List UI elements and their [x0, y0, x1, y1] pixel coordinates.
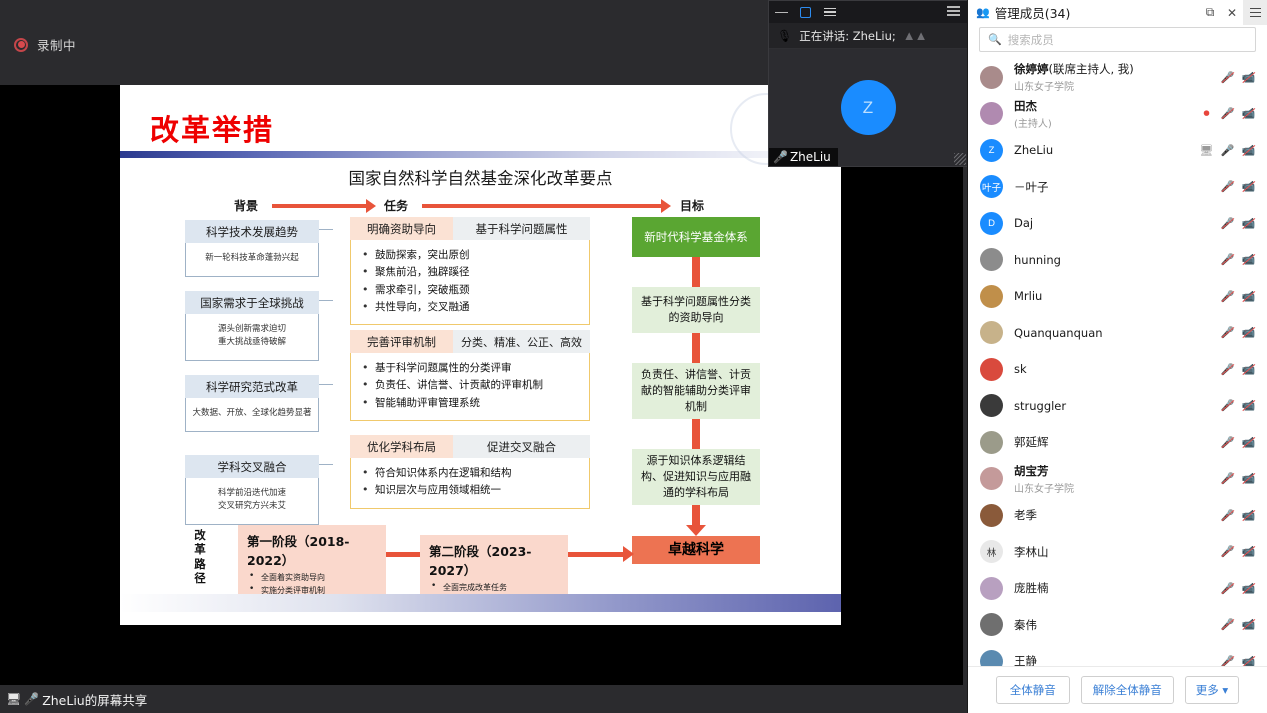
- mute-all-button[interactable]: 全体静音: [996, 676, 1070, 704]
- strike-through: [1221, 181, 1234, 192]
- mic-icon: 🎤: [773, 150, 788, 164]
- participant-row[interactable]: 徐婷婷(联席主持人, 我)山东女子学院🎤📹: [968, 59, 1267, 96]
- strike-through: [1242, 364, 1255, 375]
- participant-row[interactable]: 胡宝芳山东女子学院🎤📹: [968, 461, 1267, 498]
- participant-row[interactable]: sk🎤📹: [968, 351, 1267, 388]
- phase-item: 全面完成改革任务: [429, 581, 559, 594]
- participant-row[interactable]: Mrliu🎤📹: [968, 278, 1267, 315]
- menu-icon[interactable]: [823, 6, 836, 19]
- task-tab-primary: 明确资助导向: [350, 217, 453, 240]
- participant-info: －叶子: [1014, 179, 1221, 195]
- participant-row[interactable]: 叶子－叶子🎤📹: [968, 169, 1267, 206]
- task-item: 知识层次与应用领域相统一: [361, 482, 584, 499]
- phase-items: 全面完成改革任务: [429, 581, 559, 594]
- participants-panel: 👥 管理成员(34) ⧉ ✕ 🔍 徐婷婷(联席主持人, 我)山东女子学院🎤📹田杰…: [967, 0, 1267, 713]
- participant-row[interactable]: 秦伟🎤📹: [968, 607, 1267, 644]
- panel-header-actions: ⧉ ✕: [1199, 0, 1267, 25]
- participant-info: 胡宝芳山东女子学院: [1014, 463, 1221, 495]
- people-icon: 👥: [976, 6, 990, 19]
- video-tile-name: 🎤 ZheLiu: [769, 148, 838, 166]
- mic-off-icon[interactable]: 🎤: [1221, 107, 1234, 120]
- strike-through: [1242, 327, 1255, 338]
- participant-status-icons: 🎤📹: [1221, 545, 1259, 558]
- participant-info: Quanquanquan: [1014, 326, 1221, 340]
- task-tab-primary: 优化学科布局: [350, 435, 453, 458]
- camera-off-icon[interactable]: 📹: [1242, 509, 1255, 522]
- participant-row[interactable]: 庞胜楠🎤📹: [968, 570, 1267, 607]
- avatar: [980, 66, 1003, 89]
- slide-divider-top: [120, 151, 841, 158]
- participant-status-icons: 🎤📹: [1221, 472, 1259, 485]
- strike-through: [1221, 364, 1234, 375]
- participant-name: 胡宝芳: [1014, 463, 1221, 479]
- avatar: [980, 358, 1003, 381]
- phase-connector: [386, 552, 420, 557]
- participant-info: ZheLiu: [1014, 143, 1200, 157]
- strike-through: [1221, 218, 1234, 229]
- minimize-icon[interactable]: —: [775, 6, 788, 19]
- mic-off-icon[interactable]: 🎤: [1221, 472, 1234, 485]
- recording-label: 录制中: [37, 35, 76, 54]
- avatar: [980, 285, 1003, 308]
- connector-tick: [319, 464, 333, 465]
- participant-info: 庞胜楠: [1014, 580, 1221, 596]
- camera-off-icon[interactable]: 📹: [1242, 326, 1255, 339]
- background-card-body: 源头创新需求迫切 重大挑战亟待破解: [185, 314, 319, 361]
- task-group-items: 基于科学问题属性的分类评审 负责任、讲信誉、计贡献的评审机制 智能辅助评审管理系…: [350, 353, 590, 421]
- mic-off-icon[interactable]: 🎤: [1221, 399, 1234, 412]
- avatar: [980, 577, 1003, 600]
- camera-off-icon[interactable]: 📹: [1242, 144, 1255, 157]
- participant-row[interactable]: 田杰(主持人)⏺🎤📹: [968, 96, 1267, 133]
- mic-off-icon[interactable]: 🎤: [1221, 363, 1234, 376]
- participant-status-icons: 🎤📹: [1221, 326, 1259, 339]
- participant-row[interactable]: 老季🎤📹: [968, 497, 1267, 534]
- participant-info: Mrliu: [1014, 289, 1221, 303]
- search-area: 🔍: [968, 25, 1267, 59]
- avatar: [980, 613, 1003, 636]
- phase-item: 全面着实资助导向: [247, 571, 377, 584]
- strike-through: [1221, 619, 1234, 630]
- resize-handle[interactable]: [954, 153, 966, 165]
- audio-wave-icon: ▲▲: [903, 28, 927, 43]
- participant-status-icons: 🖥🎤📹: [1200, 144, 1259, 157]
- task-group-tabs: 优化学科布局 促进交叉融合: [350, 435, 590, 458]
- strike-through: [1221, 546, 1234, 557]
- strike-through: [1221, 254, 1234, 265]
- record-dot-icon: [14, 38, 28, 52]
- strike-through: [1221, 400, 1234, 411]
- video-tile-name-label: ZheLiu: [790, 150, 831, 164]
- task-tab-secondary: 分类、精准、公正、高效: [453, 330, 590, 353]
- task-group-tabs: 明确资助导向 基于科学问题属性: [350, 217, 590, 240]
- screen-share-status-bar: 🖥 🎤 ZheLiu的屏幕共享: [0, 685, 963, 713]
- participant-name: 秦伟: [1014, 617, 1221, 633]
- strike-through: [1221, 72, 1234, 83]
- phase-to-goal-arrow: [568, 552, 624, 557]
- background-card-body: 新一轮科技革命蓬勃兴起: [185, 243, 319, 277]
- reform-path-label: 改革路径: [192, 528, 208, 586]
- participant-name: Daj: [1014, 216, 1221, 230]
- mic-on-icon[interactable]: 🎤: [1221, 144, 1234, 157]
- task-tab-secondary: 促进交叉融合: [453, 435, 590, 458]
- participants-panel-footer: 全体静音 解除全体静音 更多 ▾: [968, 666, 1267, 713]
- participant-name: 李林山: [1014, 544, 1221, 560]
- camera-off-icon[interactable]: 📹: [1242, 253, 1255, 266]
- strike-through: [1242, 218, 1255, 229]
- goal-final-box: 卓越科学: [632, 536, 760, 564]
- strike-through: [1242, 400, 1255, 411]
- participant-info: sk: [1014, 362, 1221, 376]
- avatar: [980, 248, 1003, 271]
- search-box[interactable]: 🔍: [979, 27, 1256, 52]
- camera-off-icon[interactable]: 📹: [1242, 582, 1255, 595]
- participant-info: 郭延辉: [1014, 434, 1221, 450]
- participant-name: 庞胜楠: [1014, 580, 1221, 596]
- participant-row[interactable]: DDaj🎤📹: [968, 205, 1267, 242]
- recording-indicator[interactable]: 录制中: [14, 35, 76, 54]
- participant-status-icons: 🎤📹: [1221, 71, 1259, 84]
- camera-off-icon[interactable]: 📹: [1242, 472, 1255, 485]
- goal-connector-arrow: [692, 505, 700, 525]
- participant-status-icons: ⏺🎤📹: [1200, 107, 1259, 120]
- task-group: 完善评审机制 分类、精准、公正、高效 基于科学问题属性的分类评审 负责任、讲信誉…: [350, 330, 590, 421]
- strike-through: [1221, 108, 1234, 119]
- strike-through: [1221, 583, 1234, 594]
- mic-off-icon[interactable]: 🎤: [1221, 509, 1234, 522]
- goal-box: 源于知识体系逻辑结构、促进知识与应用融通的学科布局: [632, 449, 760, 505]
- task-item: 共性导向，交叉融通: [361, 299, 584, 316]
- meeting-main-area: 录制中 改革举措 国家自然科学自然基金深化改革要点 背景 任务 目标 科学技术发…: [0, 0, 963, 713]
- screen-share-label: ZheLiu的屏幕共享: [42, 690, 147, 709]
- participant-status-icons: 🎤📹: [1221, 217, 1259, 230]
- strike-through: [1221, 327, 1234, 338]
- strike-through: [1242, 437, 1255, 448]
- background-card-caption: 科学技术发展趋势: [185, 220, 319, 243]
- participant-name: －叶子: [1014, 179, 1221, 195]
- participant-subtitle: 山东女子学院: [1014, 480, 1221, 495]
- background-card-body: 科学前沿迭代加速 交叉研究方兴未艾: [185, 478, 319, 525]
- participant-name: sk: [1014, 362, 1221, 376]
- camera-off-icon[interactable]: 📹: [1242, 217, 1255, 230]
- strike-through: [1242, 619, 1255, 630]
- goal-connector: [692, 419, 700, 449]
- participant-name: 老季: [1014, 507, 1221, 523]
- strike-through: [1221, 510, 1234, 521]
- strike-through: [1221, 437, 1234, 448]
- unmute-all-button[interactable]: 解除全体静音: [1081, 676, 1174, 704]
- goal-box: 负责任、讲信誉、计贡献的智能辅助分类评审机制: [632, 363, 760, 419]
- participant-info: 老季: [1014, 507, 1221, 523]
- avatar: [980, 394, 1003, 417]
- task-group-tabs: 完善评审机制 分类、精准、公正、高效: [350, 330, 590, 353]
- arrow-background-to-task: [272, 204, 367, 208]
- avatar: [980, 431, 1003, 454]
- participant-name: struggler: [1014, 399, 1221, 413]
- participant-info: 李林山: [1014, 544, 1221, 560]
- goal-box: 基于科学问题属性分类的资助导向: [632, 287, 760, 333]
- phase-title: 第二阶段（2023-2027）: [429, 541, 559, 579]
- strike-through: [1242, 145, 1255, 156]
- task-item: 基于科学问题属性的分类评审: [361, 360, 584, 377]
- goal-box: 新时代科学基金体系: [632, 217, 760, 257]
- participant-name: hunning: [1014, 253, 1221, 267]
- participant-info: 王静: [1014, 653, 1221, 666]
- task-item: 聚焦前沿，独辟蹊径: [361, 264, 584, 281]
- shared-slide: 改革举措 国家自然科学自然基金深化改革要点 背景 任务 目标 科学技术发展趋势 …: [120, 85, 841, 625]
- strike-through: [1242, 546, 1255, 557]
- task-group: 明确资助导向 基于科学问题属性 鼓励探索，突出原创 聚焦前沿，独辟蹊径 需求牵引…: [350, 217, 590, 325]
- participants-list[interactable]: 徐婷婷(联席主持人, 我)山东女子学院🎤📹田杰(主持人)⏺🎤📹ZZheLiu🖥🎤…: [968, 59, 1267, 666]
- background-card-caption: 国家需求于全球挑战: [185, 291, 319, 314]
- participant-info: struggler: [1014, 399, 1221, 413]
- goal-connector: [692, 333, 700, 363]
- restore-icon[interactable]: [799, 6, 812, 19]
- background-card: 科学技术发展趋势 新一轮科技革命蓬勃兴起: [185, 220, 319, 277]
- participant-info: hunning: [1014, 253, 1221, 267]
- task-item: 符合知识体系内在逻辑和结构: [361, 465, 584, 482]
- phase-box: 第二阶段（2023-2027） 全面完成改革任务: [420, 535, 568, 600]
- mic-off-icon[interactable]: 🎤: [1221, 618, 1234, 631]
- strike-through: [1242, 181, 1255, 192]
- avatar: 林: [980, 540, 1003, 563]
- participant-status-icons: 🎤📹: [1221, 363, 1259, 376]
- layout-icon[interactable]: [947, 6, 960, 16]
- participant-status-icons: 🎤📹: [1221, 618, 1259, 631]
- more-button[interactable]: 更多 ▾: [1185, 676, 1239, 704]
- arrow-task-to-goal: [422, 204, 662, 208]
- participant-status-icons: 🎤📹: [1221, 509, 1259, 522]
- connector-tick: [319, 384, 333, 385]
- search-input[interactable]: [1008, 33, 1247, 47]
- participant-info: 秦伟: [1014, 617, 1221, 633]
- task-item: 鼓励探索，突出原创: [361, 247, 584, 264]
- camera-off-icon[interactable]: 📹: [1242, 363, 1255, 376]
- task-item: 智能辅助评审管理系统: [361, 395, 584, 412]
- strike-through: [1242, 291, 1255, 302]
- participant-info: Daj: [1014, 216, 1221, 230]
- mic-off-icon[interactable]: 🎤: [1221, 436, 1234, 449]
- task-item: 负责任、讲信誉、计贡献的评审机制: [361, 377, 584, 394]
- background-card: 国家需求于全球挑战 源头创新需求迫切 重大挑战亟待破解: [185, 291, 319, 361]
- participant-status-icons: 🎤📹: [1221, 582, 1259, 595]
- task-item: 需求牵引，突破瓶颈: [361, 282, 584, 299]
- column-header-background: 背景: [234, 197, 258, 214]
- participants-panel-title: 管理成员(34): [995, 3, 1071, 22]
- participant-name: 王静: [1014, 653, 1221, 666]
- screen-share-icon[interactable]: 🖥: [1200, 144, 1213, 157]
- avatar: Z: [841, 80, 896, 135]
- avatar: D: [980, 212, 1003, 235]
- strike-through: [1242, 473, 1255, 484]
- active-speaker-bar: 🎙 正在讲话: ZheLiu; ▲▲: [769, 23, 967, 49]
- task-group-items: 符合知识体系内在逻辑和结构 知识层次与应用领域相统一: [350, 458, 590, 509]
- connector-tick: [319, 229, 333, 230]
- participant-status-icons: 🎤📹: [1221, 290, 1259, 303]
- participant-row[interactable]: struggler🎤📹: [968, 388, 1267, 425]
- strike-through: [1242, 656, 1255, 666]
- strike-through: [1221, 656, 1234, 666]
- task-tab-secondary: 基于科学问题属性: [453, 217, 590, 240]
- mic-icon: 🎤: [24, 692, 39, 706]
- slide-footer-strip: [120, 612, 841, 625]
- close-icon[interactable]: ✕: [1221, 0, 1243, 25]
- participant-name: Mrliu: [1014, 289, 1221, 303]
- participant-row[interactable]: hunning🎤📹: [968, 242, 1267, 279]
- column-header-task: 任务: [384, 197, 408, 214]
- active-speaker-text: 正在讲话: ZheLiu;: [799, 28, 896, 44]
- mic-off-icon[interactable]: 🎤: [1221, 253, 1234, 266]
- camera-off-icon[interactable]: 📹: [1242, 290, 1255, 303]
- participant-name: 田杰: [1014, 98, 1200, 114]
- mic-off-icon[interactable]: 🎤: [1221, 290, 1234, 303]
- mic-off-icon[interactable]: 🎤: [1221, 545, 1234, 558]
- participant-subtitle: 山东女子学院: [1014, 78, 1221, 93]
- participant-row[interactable]: Quanquanquan🎤📹: [968, 315, 1267, 352]
- participant-info: 田杰(主持人): [1014, 98, 1200, 130]
- participant-status-icons: 🎤📹: [1221, 436, 1259, 449]
- avatar: 叶子: [980, 175, 1003, 198]
- strike-through: [1242, 254, 1255, 265]
- participant-row[interactable]: 林李林山🎤📹: [968, 534, 1267, 571]
- video-tile[interactable]: Z 🎤 ZheLiu: [769, 49, 967, 166]
- participant-row[interactable]: ZZheLiu🖥🎤📹: [968, 132, 1267, 169]
- mic-off-icon[interactable]: 🎤: [1221, 326, 1234, 339]
- recording-icon[interactable]: ⏺: [1200, 107, 1213, 120]
- participant-status-icons: 🎤📹: [1221, 253, 1259, 266]
- phase-title: 第一阶段（2018-2022）: [247, 531, 377, 569]
- slide-divider-bottom: [120, 594, 841, 612]
- participant-status-icons: 🎤📹: [1221, 180, 1259, 193]
- strike-through: [1242, 72, 1255, 83]
- floating-window-titlebar[interactable]: —: [769, 1, 967, 23]
- participant-name: ZheLiu: [1014, 143, 1200, 157]
- column-header-goal: 目标: [680, 197, 704, 214]
- task-group: 优化学科布局 促进交叉融合 符合知识体系内在逻辑和结构 知识层次与应用领域相统一: [350, 435, 590, 509]
- mic-off-icon[interactable]: 🎤: [1221, 582, 1234, 595]
- avatar: Z: [980, 139, 1003, 162]
- connector-tick: [319, 300, 333, 301]
- strike-through: [1242, 583, 1255, 594]
- background-card-caption: 学科交叉融合: [185, 455, 319, 478]
- camera-off-icon[interactable]: 📹: [1242, 71, 1255, 84]
- hamburger-icon[interactable]: [1243, 0, 1267, 25]
- background-card: 学科交叉融合 科学前沿迭代加速 交叉研究方兴未艾: [185, 455, 319, 525]
- strike-through: [1221, 291, 1234, 302]
- diagram-title: 国家自然科学自然基金深化改革要点: [120, 165, 841, 189]
- screen-icon: 🖥: [6, 692, 21, 706]
- participant-status-icons: 🎤📹: [1221, 399, 1259, 412]
- strike-through: [1242, 510, 1255, 521]
- participant-status-icons: 🎤📹: [1221, 655, 1259, 666]
- background-card: 科学研究范式改革 大数据、开放、全球化趋势显著: [185, 375, 319, 432]
- slide-title: 改革举措: [150, 107, 274, 149]
- speaking-icon: 🎙: [777, 29, 792, 43]
- participants-panel-header: 👥 管理成员(34) ⧉ ✕: [968, 0, 1267, 25]
- avatar: [980, 504, 1003, 527]
- camera-off-icon[interactable]: 📹: [1242, 107, 1255, 120]
- task-tab-primary: 完善评审机制: [350, 330, 453, 353]
- strike-through: [1242, 108, 1255, 119]
- camera-off-icon[interactable]: 📹: [1242, 618, 1255, 631]
- camera-off-icon[interactable]: 📹: [1242, 180, 1255, 193]
- mic-off-icon[interactable]: 🎤: [1221, 217, 1234, 230]
- task-group-items: 鼓励探索，突出原创 聚焦前沿，独辟蹊径 需求牵引，突破瓶颈 共性导向，交叉融通: [350, 240, 590, 325]
- strike-through: [1221, 473, 1234, 484]
- avatar: [980, 650, 1003, 666]
- background-card-body: 大数据、开放、全球化趋势显著: [185, 398, 319, 432]
- mic-off-icon[interactable]: 🎤: [1221, 71, 1234, 84]
- participant-subtitle: (主持人): [1014, 115, 1200, 130]
- mic-off-icon[interactable]: 🎤: [1221, 655, 1234, 666]
- participant-row[interactable]: 郭延辉🎤📹: [968, 424, 1267, 461]
- camera-off-icon[interactable]: 📹: [1242, 399, 1255, 412]
- floating-video-window[interactable]: — 🎙 正在讲话: ZheLiu; ▲▲ Z 🎤 ZheLiu: [768, 0, 968, 167]
- participant-info: 徐婷婷(联席主持人, 我)山东女子学院: [1014, 61, 1221, 93]
- mic-off-icon[interactable]: 🎤: [1221, 180, 1234, 193]
- avatar: [980, 467, 1003, 490]
- participant-row[interactable]: 王静🎤📹: [968, 643, 1267, 666]
- participant-name: 徐婷婷(联席主持人, 我): [1014, 61, 1221, 77]
- goal-connector: [692, 257, 700, 287]
- avatar: [980, 321, 1003, 344]
- participant-name: 郭延辉: [1014, 434, 1221, 450]
- camera-off-icon[interactable]: 📹: [1242, 545, 1255, 558]
- popout-icon[interactable]: ⧉: [1199, 0, 1221, 25]
- search-icon: 🔍: [988, 33, 1002, 46]
- camera-off-icon[interactable]: 📹: [1242, 436, 1255, 449]
- camera-off-icon[interactable]: 📹: [1242, 655, 1255, 666]
- background-card-caption: 科学研究范式改革: [185, 375, 319, 398]
- avatar: [980, 102, 1003, 125]
- participant-name: Quanquanquan: [1014, 326, 1221, 340]
